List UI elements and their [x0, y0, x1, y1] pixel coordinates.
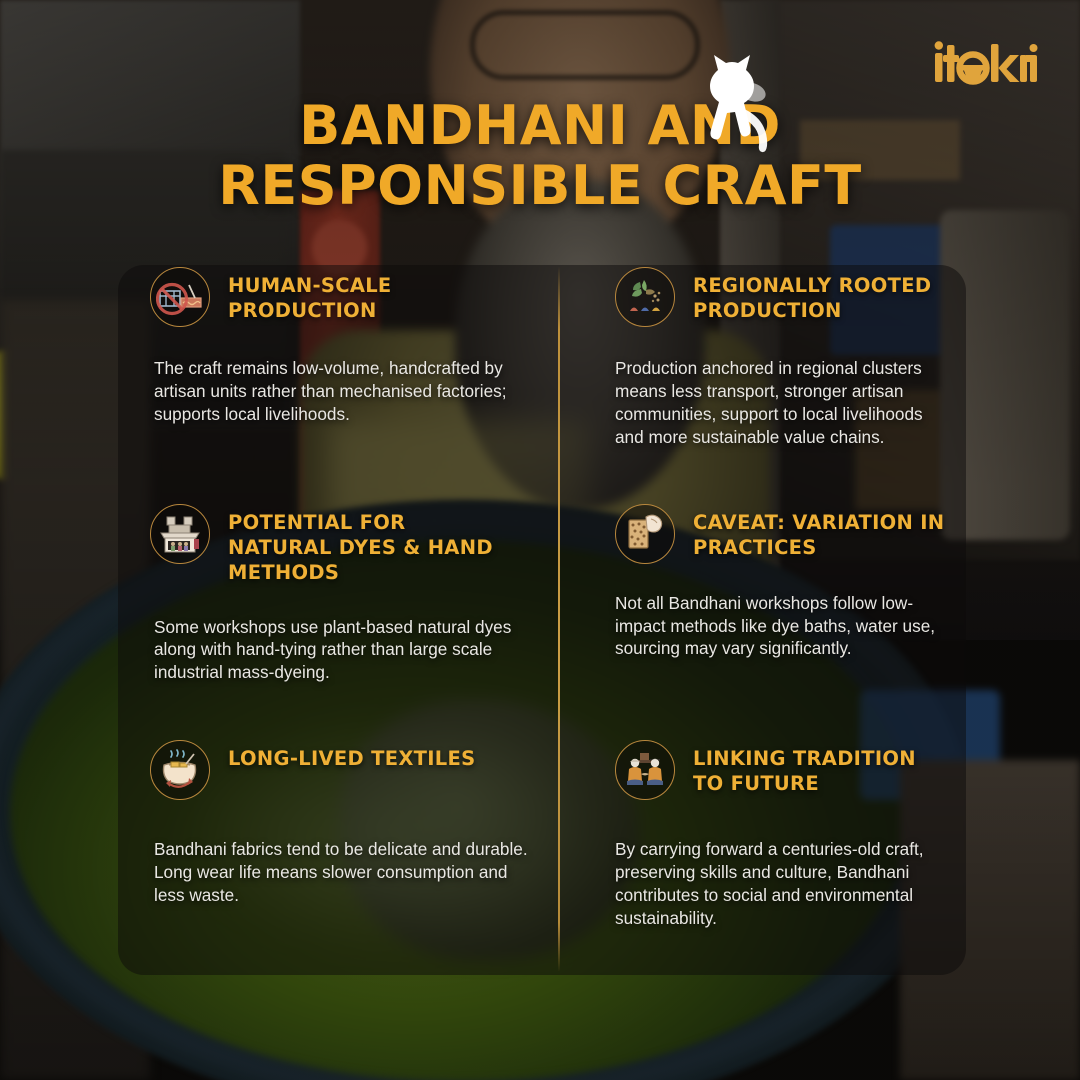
card-header: POTENTIAL FOR NATURAL DYES & HAND METHOD… — [150, 502, 544, 586]
card-header: CAVEAT: VARIATION IN PRACTICES — [615, 502, 952, 562]
brand-logo[interactable] — [934, 40, 1038, 93]
card-body: Production anchored in regional clusters… — [615, 357, 952, 449]
card-title: LONG-LIVED TEXTILES — [228, 738, 476, 772]
leaves-and-dye-mounds-icon — [615, 267, 675, 327]
card-natural-dyes-hand-methods: POTENTIAL FOR NATURAL DYES & HAND METHOD… — [118, 502, 558, 739]
title-block: BANDHANI AND RESPONSIBLE CRAFT — [0, 96, 1080, 217]
two-seated-artisans-icon — [615, 740, 675, 800]
card-title: LINKING TRADITION TO FUTURE — [693, 738, 948, 797]
no-factory-machine-icon — [150, 267, 210, 327]
card-header: HUMAN-SCALE PRODUCTION — [150, 265, 544, 325]
card-regionally-rooted-production: REGIONALLY ROOTED PRODUCTION Production … — [558, 265, 966, 502]
hand-holding-patterned-fabric-icon — [615, 504, 675, 564]
card-title: HUMAN-SCALE PRODUCTION — [228, 265, 498, 324]
page-title: BANDHANI AND RESPONSIBLE CRAFT — [0, 96, 1080, 217]
card-body: Bandhani fabrics tend to be delicate and… — [150, 838, 542, 907]
card-long-lived-textiles: LONG-LIVED TEXTILES Bandhani fabrics ten… — [118, 738, 558, 975]
card-header: REGIONALLY ROOTED PRODUCTION — [615, 265, 952, 325]
steaming-dye-pot-recycle-icon — [150, 740, 210, 800]
card-body: By carrying forward a centuries-old craf… — [615, 838, 952, 930]
card-title: REGIONALLY ROOTED PRODUCTION — [693, 265, 948, 324]
card-caveat-variation-in-practices: CAVEAT: VARIATION IN PRACTICES Not all B… — [558, 502, 966, 739]
card-title: POTENTIAL FOR NATURAL DYES & HAND METHOD… — [228, 502, 498, 586]
card-body: Some workshops use plant-based natural d… — [150, 616, 542, 685]
card-title: CAVEAT: VARIATION IN PRACTICES — [693, 502, 948, 561]
card-body: Not all Bandhani workshops follow low-im… — [615, 592, 952, 661]
card-header: LONG-LIVED TEXTILES — [150, 738, 544, 798]
artisan-workshop-building-icon — [150, 504, 210, 564]
card-body: The craft remains low-volume, handcrafte… — [150, 357, 542, 426]
card-linking-tradition-to-future: LINKING TRADITION TO FUTURE By carrying … — [558, 738, 966, 975]
card-header: LINKING TRADITION TO FUTURE — [615, 738, 952, 798]
page-title-line-1: BANDHANI AND — [150, 96, 930, 156]
white-cat-silhouette-icon — [690, 52, 800, 157]
cards-grid: HUMAN-SCALE PRODUCTION The craft remains… — [118, 265, 966, 975]
card-human-scale-production: HUMAN-SCALE PRODUCTION The craft remains… — [118, 265, 558, 502]
page-title-line-2: RESPONSIBLE CRAFT — [150, 156, 930, 216]
itokri-wordmark-icon — [934, 40, 1038, 86]
